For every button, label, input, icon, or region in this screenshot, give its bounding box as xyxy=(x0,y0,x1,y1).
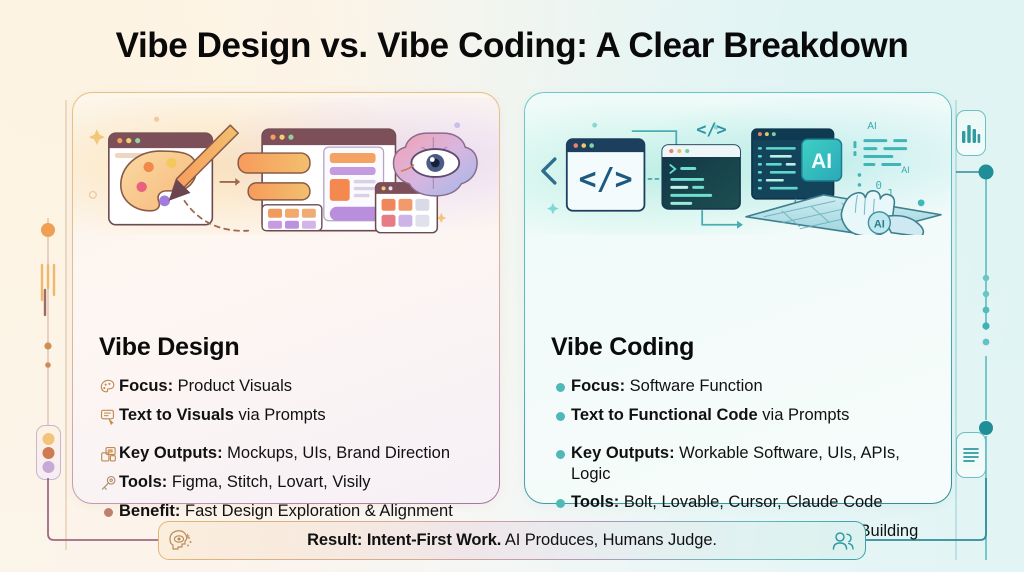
left-decor-node-card xyxy=(36,425,61,480)
list-item: Key Outputs: Mockups, UIs, Brand Directi… xyxy=(97,443,485,465)
dot-icon xyxy=(549,444,571,465)
list-item-text: Tools: Bolt, Lovable, Cursor, Claude Cod… xyxy=(571,492,883,513)
left-bullet-list: Focus: Product Visuals Text to Visuals v… xyxy=(97,376,485,530)
dot-icon xyxy=(549,493,571,514)
bar-chart-icon xyxy=(961,122,981,144)
palette-icon xyxy=(97,377,119,398)
page-title: Vibe Design vs. Vibe Coding: A Clear Bre… xyxy=(0,26,1024,66)
list-item: Tools: Bolt, Lovable, Cursor, Claude Cod… xyxy=(549,492,937,514)
prompt-cursor-icon xyxy=(97,406,119,427)
dot-icon xyxy=(549,406,571,427)
layers-icon xyxy=(97,444,119,465)
right-decor-list-card xyxy=(956,432,986,478)
vibe-design-panel: Vibe Design Focus: Product Visuals xyxy=(72,92,500,504)
design-illustration-svg xyxy=(73,97,499,235)
list-item-text: Text to Functional Code via Prompts xyxy=(571,405,849,426)
svg-text:AI: AI xyxy=(811,150,832,173)
design-illustration xyxy=(73,97,499,235)
people-group-icon xyxy=(821,530,865,552)
list-item-text: Benefit: Fast Design Exploration & Align… xyxy=(119,501,453,522)
list-item-text: Key Outputs: Workable Software, UIs, API… xyxy=(571,443,937,485)
svg-text:AI: AI xyxy=(901,165,909,175)
list-item-text: Focus: Software Function xyxy=(571,376,763,397)
right-decor-chart-card xyxy=(956,110,986,156)
vibe-coding-panel: </> </> xyxy=(524,92,952,504)
head-profile-eye-icon xyxy=(159,528,203,554)
list-item: Focus: Product Visuals xyxy=(97,376,485,398)
result-rest-text: AI Produces, Humans Judge. xyxy=(501,531,717,549)
list-item: Key Outputs: Workable Software, UIs, API… xyxy=(549,443,937,485)
list-item: Text to Visuals via Prompts xyxy=(97,405,485,427)
svg-text:AI: AI xyxy=(874,219,885,231)
panel-heading-right: Vibe Coding xyxy=(551,333,694,362)
coding-illustration: </> </> xyxy=(525,97,951,235)
list-lines-icon xyxy=(962,446,980,464)
list-item: Text to Functional Code via Prompts xyxy=(549,405,937,427)
infographic-canvas: Vibe Design vs. Vibe Coding: A Clear Bre… xyxy=(0,0,1024,572)
list-item-text: Tools: Figma, Stitch, Lovart, Visily xyxy=(119,472,371,493)
svg-text:</>: </> xyxy=(579,162,633,197)
dot-icon xyxy=(97,502,119,523)
list-item-text: Focus: Product Visuals xyxy=(119,376,292,397)
key-icon xyxy=(97,473,119,494)
coding-illustration-svg: </> </> xyxy=(525,97,951,235)
dot-icon xyxy=(549,377,571,398)
svg-text:0: 0 xyxy=(875,179,882,192)
list-item-text: Key Outputs: Mockups, UIs, Brand Directi… xyxy=(119,443,450,464)
result-bold-text: Result: Intent-First Work. xyxy=(307,531,501,549)
list-item: Focus: Software Function xyxy=(549,376,937,398)
color-swatch-stack-icon xyxy=(40,431,57,475)
svg-text:</>: </> xyxy=(696,119,727,139)
result-banner-text: Result: Intent-First Work. AI Produces, … xyxy=(203,531,821,550)
list-item: Benefit: Fast Design Exploration & Align… xyxy=(97,501,485,523)
svg-text:AI: AI xyxy=(867,121,876,132)
list-item-text: Text to Visuals via Prompts xyxy=(119,405,326,426)
panel-heading-left: Vibe Design xyxy=(99,333,239,362)
list-item: Tools: Figma, Stitch, Lovart, Visily xyxy=(97,472,485,494)
result-banner: Result: Intent-First Work. AI Produces, … xyxy=(158,521,866,560)
